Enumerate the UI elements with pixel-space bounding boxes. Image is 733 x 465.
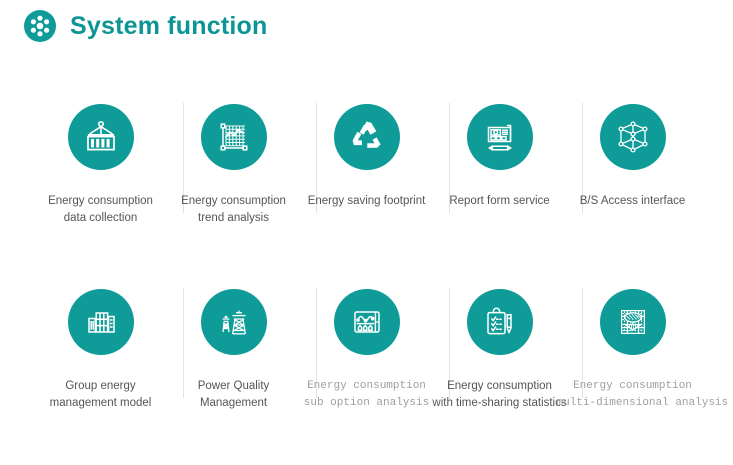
page-header: System function bbox=[24, 10, 267, 42]
multi-dimensional-network-icon bbox=[600, 289, 666, 355]
grid-trend-chart-icon bbox=[201, 104, 267, 170]
function-item-energy-consumption-multi-dimensional-analysis[interactable]: Energy consumption multi-dimensional ana… bbox=[566, 280, 699, 465]
function-item-energy-consumption-data-collection[interactable]: Energy consumption data collection bbox=[34, 95, 167, 280]
caption-line-1: Report form service bbox=[449, 195, 549, 207]
function-item-caption: Energy saving footprint bbox=[291, 193, 443, 210]
report-layout-pencil-icon bbox=[467, 104, 533, 170]
caption-line-2: sub option analysis bbox=[291, 395, 443, 412]
function-row-2: Group energy management model bbox=[0, 280, 733, 465]
function-item-report-form-service[interactable]: Report form service bbox=[433, 95, 566, 280]
function-item-caption: Group energy management model bbox=[25, 378, 177, 412]
caption-line-2: data collection bbox=[25, 210, 177, 227]
caption-line-1: Energy consumption bbox=[181, 195, 286, 207]
caption-line-2: Management bbox=[158, 395, 310, 412]
caption-line-1: B/S Access interface bbox=[580, 195, 685, 207]
caption-line-2: management model bbox=[25, 395, 177, 412]
function-item-power-quality-management[interactable]: Power Quality Management bbox=[167, 280, 300, 465]
caption-line-1: Energy consumption bbox=[307, 380, 426, 392]
caption-line-1: Group energy bbox=[65, 380, 135, 392]
function-item-caption: B/S Access interface bbox=[557, 193, 709, 210]
panel-chart-buildings-icon bbox=[334, 289, 400, 355]
function-item-caption: Energy consumption data collection bbox=[25, 193, 177, 227]
caption-line-2: multi-dimensional analysis bbox=[557, 395, 709, 412]
caption-line-1: Energy consumption bbox=[573, 380, 692, 392]
page-title: System function bbox=[70, 14, 267, 39]
function-item-energy-consumption-trend-analysis[interactable]: Energy consumption trend analysis bbox=[167, 95, 300, 280]
flower-atom-icon bbox=[24, 10, 56, 42]
caption-line-1: Energy consumption bbox=[447, 380, 552, 392]
power-tower-icon bbox=[201, 289, 267, 355]
function-item-energy-consumption-with-time-sharing-statistics[interactable]: Energy consumption with time-sharing sta… bbox=[433, 280, 566, 465]
function-item-group-energy-management-model[interactable]: Group energy management model bbox=[34, 280, 167, 465]
caption-line-1: Energy saving footprint bbox=[308, 195, 426, 207]
function-item-caption: Energy consumption with time-sharing sta… bbox=[424, 378, 576, 412]
function-item-caption: Energy consumption multi-dimensional ana… bbox=[557, 378, 709, 412]
caption-line-2: trend analysis bbox=[158, 210, 310, 227]
function-row-1: Energy consumption data collection bbox=[0, 95, 733, 280]
caption-line-2: with time-sharing statistics bbox=[424, 395, 576, 412]
function-item-bs-access-interface[interactable]: B/S Access interface bbox=[566, 95, 699, 280]
function-item-caption: Power Quality Management bbox=[158, 378, 310, 412]
function-grid: Energy consumption data collection bbox=[0, 95, 733, 465]
caption-line-1: Energy consumption bbox=[48, 195, 153, 207]
function-item-energy-saving-footprint[interactable]: Energy saving footprint bbox=[300, 95, 433, 280]
recycle-icon bbox=[334, 104, 400, 170]
function-item-caption: Energy consumption sub option analysis bbox=[291, 378, 443, 412]
shipping-container-icon bbox=[68, 104, 134, 170]
function-item-caption: Energy consumption trend analysis bbox=[158, 193, 310, 227]
clipboard-checklist-pen-icon bbox=[467, 289, 533, 355]
node-cube-icon bbox=[600, 104, 666, 170]
function-item-caption: Report form service bbox=[424, 193, 576, 210]
caption-line-1: Power Quality bbox=[198, 380, 270, 392]
buildings-icon bbox=[68, 289, 134, 355]
function-item-energy-consumption-sub-option-analysis[interactable]: Energy consumption sub option analysis bbox=[300, 280, 433, 465]
